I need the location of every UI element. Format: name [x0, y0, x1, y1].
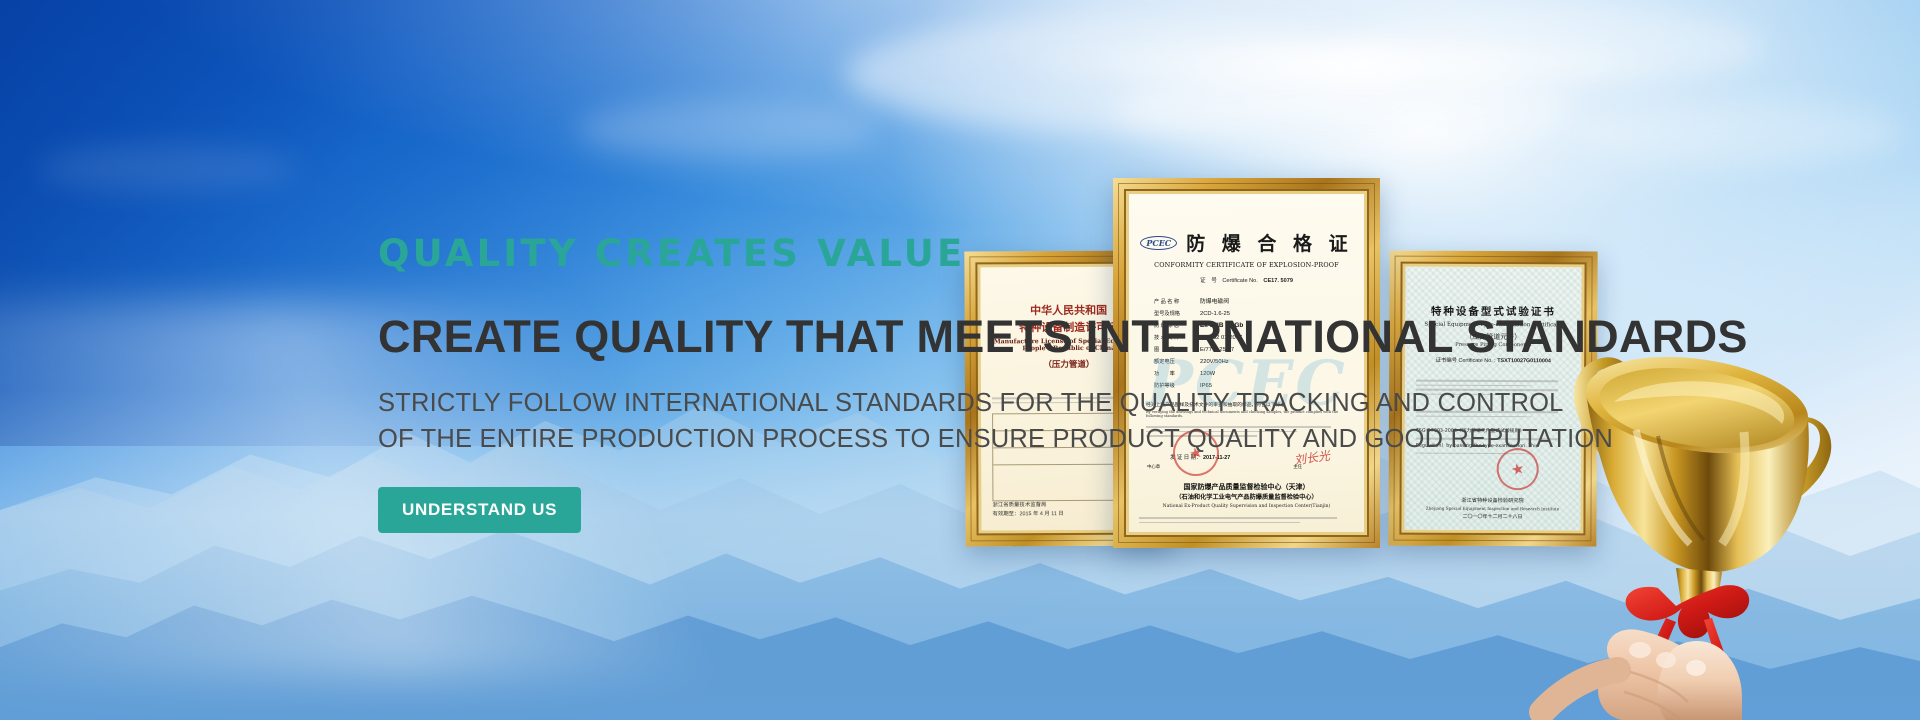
banner-content: QUALITY CREATES VALUE CREATE QUALITY THA…: [378, 232, 1458, 533]
page-title: CREATE QUALITY THAT MEETS INTERNATIONAL …: [378, 311, 1458, 363]
promo-banner: 中华人民共和国 特种设备制造许可证 Manufacture License of…: [0, 0, 1920, 720]
fingernail: [1656, 652, 1676, 668]
fingernail: [1686, 660, 1706, 676]
fingernail: [1629, 642, 1651, 658]
subcopy-line-1: STRICTLY FOLLOW INTERNATIONAL STANDARDS …: [378, 385, 1458, 421]
eyebrow-heading: QUALITY CREATES VALUE: [378, 232, 1458, 275]
subcopy-line-2: OF THE ENTIRE PRODUCTION PROCESS TO ENSU…: [378, 421, 1458, 457]
trophy-illustration: [1490, 320, 1920, 720]
understand-us-button[interactable]: UNDERSTAND US: [378, 487, 581, 533]
